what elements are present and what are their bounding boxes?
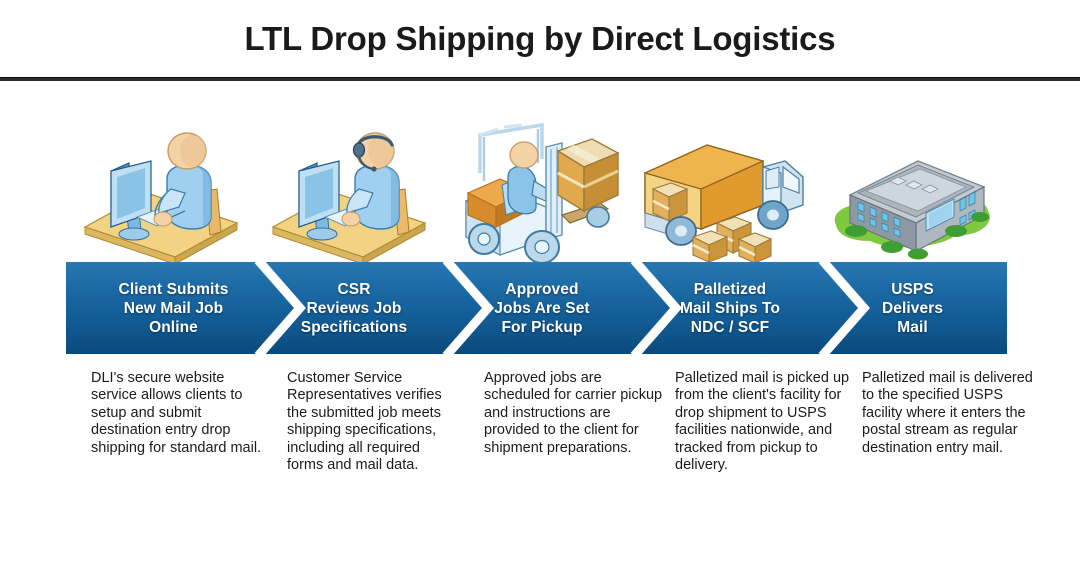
process-banner: Client Submits New Mail Job Online CSR R… bbox=[66, 262, 1007, 354]
title-bar: LTL Drop Shipping by Direct Logistics bbox=[0, 0, 1080, 78]
caption-step-5: Palletized mail is delivered to the spec… bbox=[862, 370, 1044, 457]
banner-step-4-label: Palletized Mail Ships To NDC / SCF bbox=[680, 280, 780, 337]
banner-step-3-label: Approved Jobs Are Set For Pickup bbox=[494, 280, 589, 337]
step-1-illustration bbox=[66, 128, 254, 263]
csr-headset-at-computer-icon bbox=[263, 131, 433, 263]
banner-step-1-label: Client Submits New Mail Job Online bbox=[119, 280, 229, 337]
icon-row bbox=[66, 128, 1007, 263]
step-4-illustration bbox=[630, 128, 818, 263]
delivery-truck-with-boxes-icon bbox=[635, 131, 813, 263]
process-flow-stage: Client Submits New Mail Job Online CSR R… bbox=[0, 82, 1080, 583]
caption-row: DLI's secure website service allows clie… bbox=[66, 370, 1066, 570]
caption-step-3: Approved jobs are scheduled for carrier … bbox=[484, 370, 670, 457]
forklift-with-pallet-icon bbox=[450, 123, 622, 263]
infographic-page: LTL Drop Shipping by Direct Logistics bbox=[0, 0, 1080, 583]
banner-step-5-label: USPS Delivers Mail bbox=[882, 280, 943, 337]
caption-step-1: DLI's secure website service allows clie… bbox=[91, 370, 263, 457]
usps-facility-building-icon bbox=[826, 139, 998, 263]
banner-step-3[interactable]: Approved Jobs Are Set For Pickup bbox=[442, 262, 642, 354]
page-title: LTL Drop Shipping by Direct Logistics bbox=[245, 20, 836, 58]
banner-step-4[interactable]: Palletized Mail Ships To NDC / SCF bbox=[630, 262, 830, 354]
banner-step-2-label: CSR Reviews Job Specifications bbox=[301, 280, 408, 337]
banner-step-1[interactable]: Client Submits New Mail Job Online bbox=[66, 262, 281, 354]
banner-step-2[interactable]: CSR Reviews Job Specifications bbox=[254, 262, 454, 354]
caption-step-4: Palletized mail is picked up from the cl… bbox=[675, 370, 861, 474]
person-at-computer-icon bbox=[75, 131, 245, 263]
caption-step-2: Customer Service Representatives verifie… bbox=[287, 370, 459, 474]
banner-step-5[interactable]: USPS Delivers Mail bbox=[818, 262, 1007, 354]
title-divider bbox=[0, 77, 1080, 81]
step-3-illustration bbox=[442, 128, 630, 263]
step-5-illustration bbox=[818, 128, 1006, 263]
step-2-illustration bbox=[254, 128, 442, 263]
